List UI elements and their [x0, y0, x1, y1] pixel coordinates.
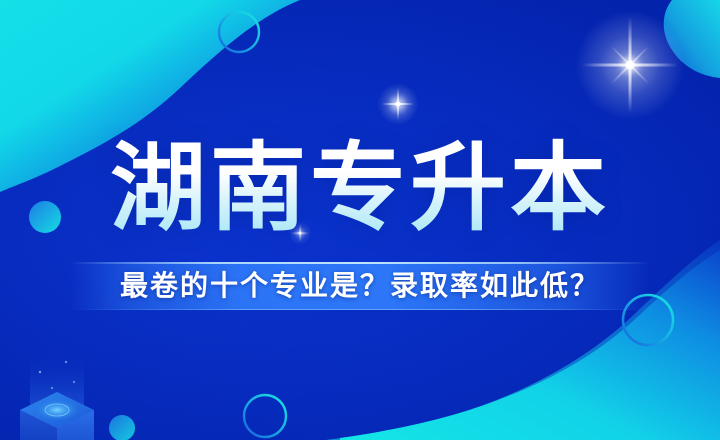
- dot-left-shape: [29, 201, 61, 233]
- cube-particle: [73, 381, 75, 383]
- promo-banner: 湖南专升本 最卷的十个专业是？录取率如此低？: [0, 0, 720, 440]
- dot-bottom-left-shape: [109, 415, 135, 440]
- cube-particle: [65, 361, 67, 363]
- background-decorations: [0, 0, 720, 440]
- cube-particle: [39, 371, 41, 373]
- cube-particle: [51, 387, 53, 389]
- cube-glow-disc: [34, 399, 80, 421]
